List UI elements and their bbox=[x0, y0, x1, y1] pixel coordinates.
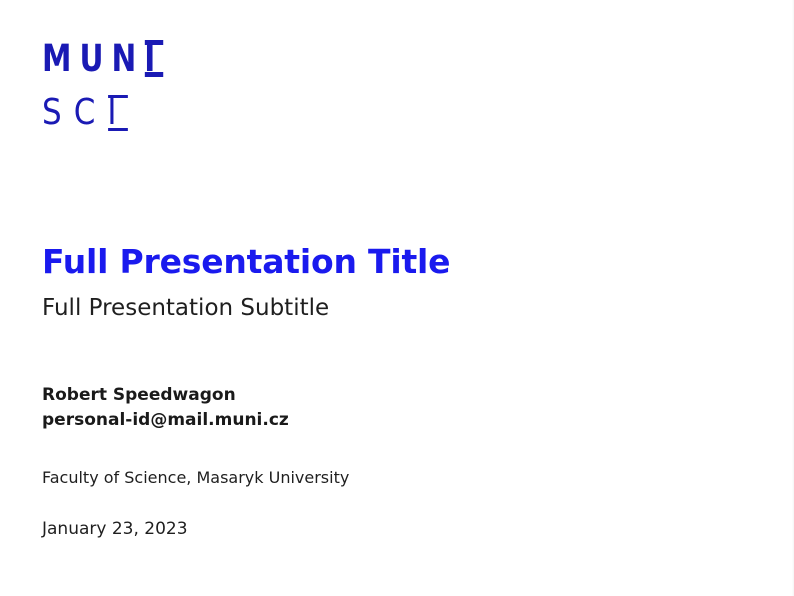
logo-sci-text: SC bbox=[42, 92, 107, 133]
author-block: Robert Speedwagon personal-id@mail.muni.… bbox=[42, 383, 742, 434]
logo-line-sci: SCI bbox=[42, 95, 172, 131]
logo-muni-slab-i-icon: I bbox=[144, 40, 163, 77]
presentation-title: Full Presentation Title bbox=[42, 243, 742, 281]
presentation-subtitle: Full Presentation Subtitle bbox=[42, 295, 742, 323]
muni-sci-logo: MUNI SCI bbox=[42, 40, 194, 131]
author-email: personal-id@mail.muni.cz bbox=[42, 408, 742, 434]
presentation-date: January 23, 2023 bbox=[42, 518, 742, 540]
logo-line-muni: MUNI bbox=[42, 40, 163, 77]
author-name: Robert Speedwagon bbox=[42, 383, 742, 409]
presentation-title-slide: MUNI SCI Full Presentation Title Full Pr… bbox=[0, 0, 794, 596]
logo-muni-text: MUN bbox=[42, 37, 144, 80]
logo-sci-slab-i-icon: I bbox=[107, 95, 128, 131]
slide-content: Full Presentation Title Full Presentatio… bbox=[42, 243, 742, 540]
affiliation: Faculty of Science, Masaryk University bbox=[42, 468, 742, 489]
